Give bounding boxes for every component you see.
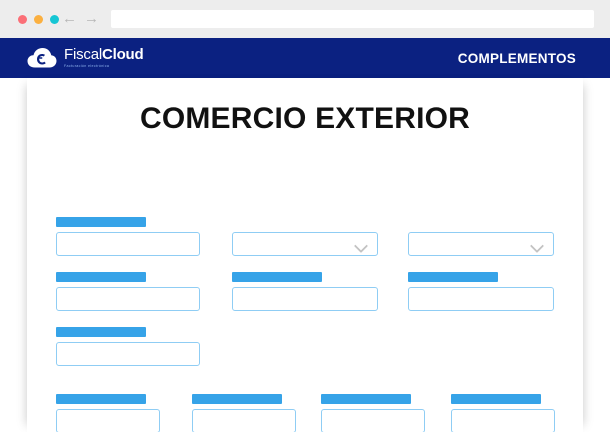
address-bar[interactable] [111, 10, 594, 28]
field-2-3-input[interactable] [408, 287, 554, 311]
close-dot[interactable] [18, 15, 27, 24]
brand-logo[interactable]: FiscalCloud Facturación electrónica [27, 44, 143, 72]
field-4-2 [192, 394, 296, 432]
field-3-1-label [56, 327, 146, 337]
brand-tagline: Facturación electrónica [64, 63, 143, 69]
field-4-4 [451, 394, 555, 432]
brand-logo-text: FiscalCloud Facturación electrónica [64, 47, 143, 69]
back-arrow-icon[interactable]: ← [62, 11, 76, 26]
field-4-4-input[interactable] [451, 409, 555, 432]
window-controls [18, 15, 59, 24]
field-2-1-input[interactable] [56, 287, 200, 311]
comercio-exterior-form [27, 78, 583, 432]
field-2-2 [232, 272, 378, 311]
field-1-1 [56, 217, 200, 256]
cloud-fc-icon [27, 47, 57, 69]
field-1-1-input[interactable] [56, 232, 200, 256]
field-1-3 [408, 217, 554, 256]
field-3-1-input[interactable] [56, 342, 200, 366]
content-card: COMERCIO EXTERIOR [27, 78, 583, 432]
field-4-3-label [321, 394, 411, 404]
field-4-1-label [56, 394, 146, 404]
field-1-2-select[interactable] [232, 232, 378, 256]
field-2-2-label [232, 272, 322, 282]
maximize-dot[interactable] [50, 15, 59, 24]
field-4-3 [321, 394, 425, 432]
header-section-title: COMPLEMENTOS [458, 38, 576, 78]
field-4-2-input[interactable] [192, 409, 296, 432]
field-3-1 [56, 327, 200, 366]
field-4-2-label [192, 394, 282, 404]
field-4-1-input[interactable] [56, 409, 160, 432]
browser-chrome: ← → [0, 0, 610, 38]
brand-name-light: Fiscal [64, 46, 102, 63]
brand-name-bold: Cloud [102, 46, 144, 63]
field-1-1-label [56, 217, 146, 227]
field-2-3-label [408, 272, 498, 282]
browser-nav: ← → [62, 11, 98, 26]
forward-arrow-icon[interactable]: → [84, 11, 98, 26]
field-1-2 [232, 217, 378, 256]
minimize-dot[interactable] [34, 15, 43, 24]
field-1-3-select[interactable] [408, 232, 554, 256]
field-2-3 [408, 272, 554, 311]
field-4-1 [56, 394, 160, 432]
brand-name: FiscalCloud [64, 47, 143, 62]
app-header: FiscalCloud Facturación electrónica COMP… [0, 38, 610, 78]
app-viewport: ← → FiscalCloud Facturación electrónica … [0, 0, 610, 432]
field-4-3-input[interactable] [321, 409, 425, 432]
field-2-1 [56, 272, 200, 311]
field-2-2-input[interactable] [232, 287, 378, 311]
field-4-4-label [451, 394, 541, 404]
field-2-1-label [56, 272, 146, 282]
page-shell: FiscalCloud Facturación electrónica COMP… [0, 38, 610, 432]
